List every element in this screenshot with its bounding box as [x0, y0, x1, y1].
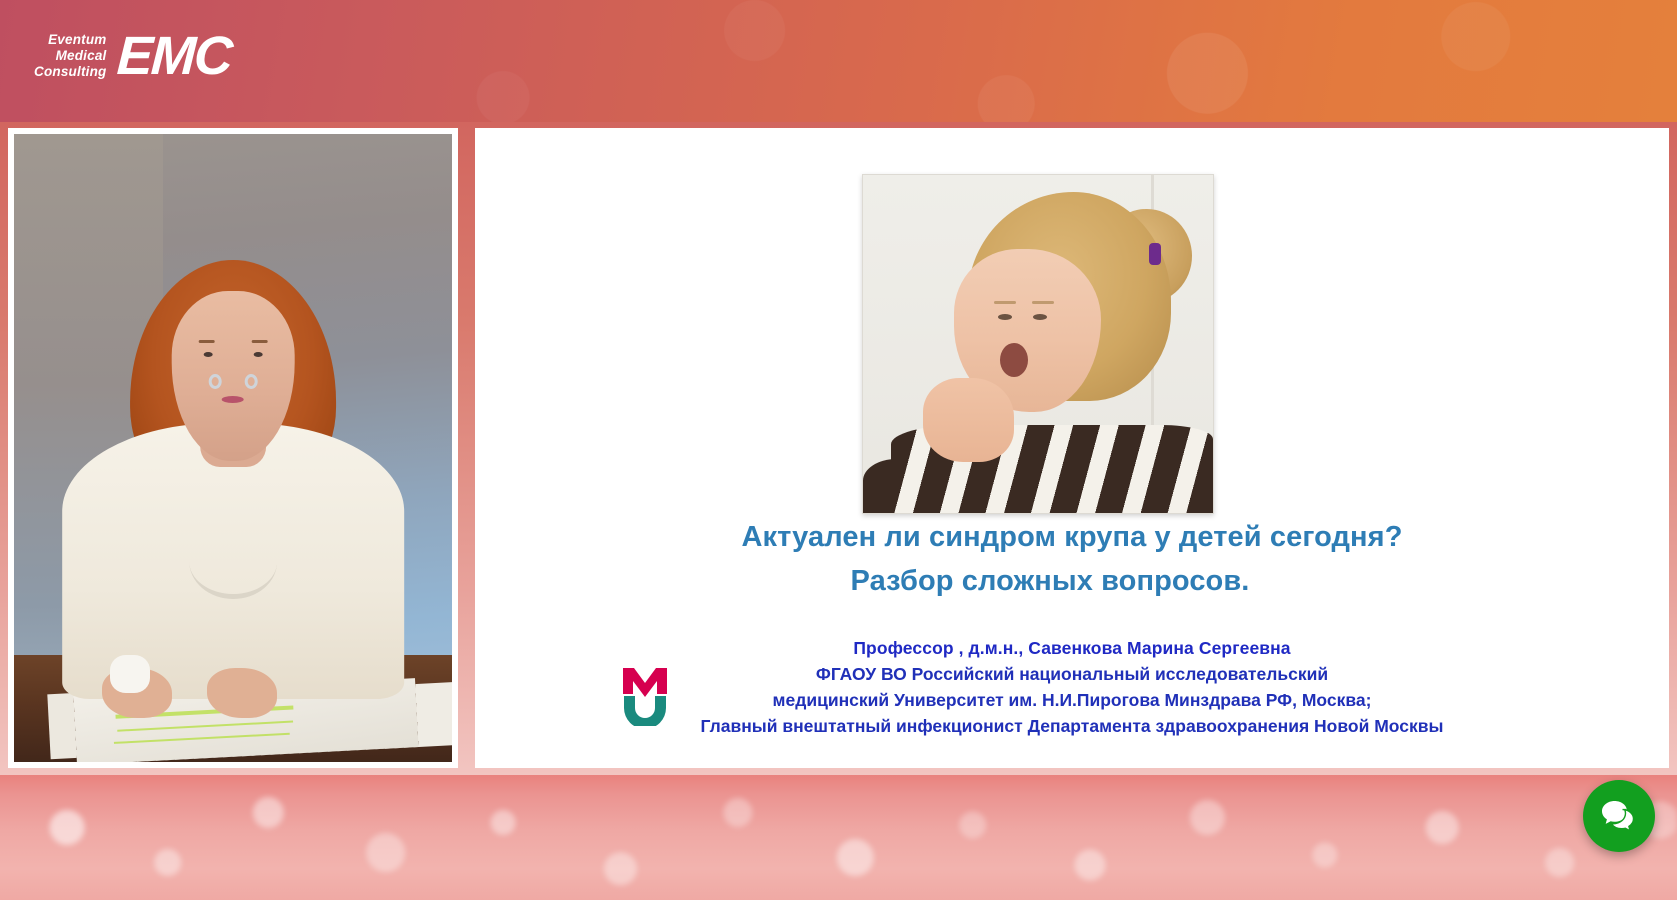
brand-wordmark-text: Eventum Medical Consulting — [34, 32, 107, 80]
speaker-video-panel[interactable] — [8, 128, 458, 768]
child-hair-tie — [1149, 243, 1161, 265]
speaker-eyebrow-left — [199, 340, 215, 343]
speaker-tissue — [110, 655, 149, 693]
speaker-video-feed[interactable] — [14, 134, 452, 762]
chat-bubbles-icon — [1599, 798, 1639, 834]
emc-logo-mark: EMC — [115, 32, 232, 81]
credit-affiliation-line-1: ФГАОУ ВО Российский национальный исследо… — [475, 662, 1669, 688]
slide-title: Актуален ли синдром крупа у детей сегодн… — [475, 516, 1669, 603]
credit-affiliation-line-3: Главный внештатный инфекционист Департам… — [475, 714, 1669, 740]
speaker-necklace — [189, 523, 277, 598]
child-eye-right — [1033, 314, 1047, 320]
presentation-slide-panel[interactable]: Актуален ли синдром крупа у детей сегодн… — [475, 128, 1669, 768]
chat-widget-button[interactable] — [1583, 780, 1655, 852]
brand-logo: Eventum Medical Consulting EMC — [34, 32, 231, 81]
speaker-eye-right — [253, 352, 262, 357]
child-eyebrow-left — [994, 301, 1016, 304]
child-open-mouth — [1000, 343, 1028, 377]
child-eyebrow-right — [1032, 301, 1054, 304]
page-root: Eventum Medical Consulting EMC — [0, 0, 1677, 900]
speaker-earring-left — [208, 374, 221, 389]
child-hand — [923, 378, 1014, 463]
decorative-bokeh-band — [0, 775, 1677, 900]
slide-credits: Профессор , д.м.н., Савенкова Марина Сер… — [475, 636, 1669, 740]
slide-title-line-2: Разбор сложных вопросов. — [475, 560, 1669, 604]
brand-line-2: Medical — [56, 48, 107, 64]
child-eye-left — [998, 314, 1012, 320]
speaker-hand-right — [207, 668, 277, 718]
slide-title-line-1: Актуален ли синдром крупа у детей сегодн… — [475, 516, 1669, 560]
coughing-child-photo — [862, 174, 1214, 514]
page-header: Eventum Medical Consulting EMC — [0, 0, 1677, 122]
speaker-mouth — [222, 396, 244, 403]
speaker-earring-right — [245, 374, 258, 389]
speaker-eyebrow-right — [251, 340, 267, 343]
credit-author: Профессор , д.м.н., Савенкова Марина Сер… — [475, 636, 1669, 662]
speaker-eye-left — [204, 352, 213, 357]
brand-line-1: Eventum — [48, 32, 106, 48]
credit-affiliation-line-2: медицинский Университет им. Н.И.Пирогова… — [475, 688, 1669, 714]
brand-line-3: Consulting — [34, 64, 107, 80]
